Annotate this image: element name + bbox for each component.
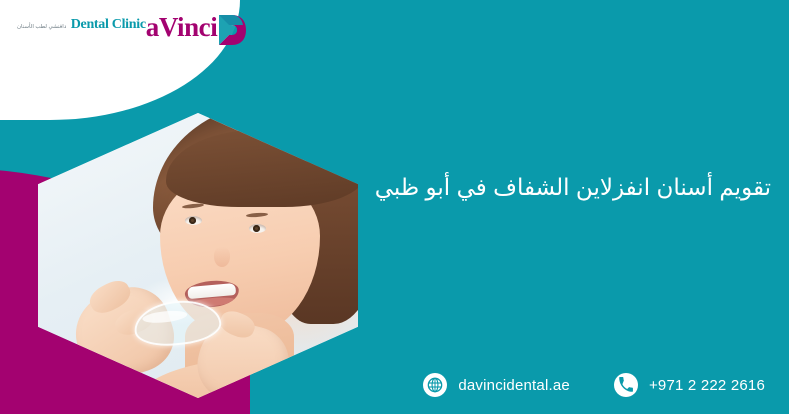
contact-phone-label: +971 2 222 2616 [649, 377, 765, 394]
logo-arabic-tagline: دافنشي لطب الأسنان [17, 24, 66, 30]
contact-phone[interactable]: +971 2 222 2616 [614, 373, 765, 397]
photo-pupil-right [253, 225, 260, 232]
photo-nose [214, 247, 230, 267]
contact-strip: +971 2 222 2616 davincidental.ae [423, 373, 765, 397]
logo-taglines: دافنشي لطب الأسنان Dental Clinic [17, 15, 146, 33]
phone-icon [614, 373, 638, 397]
photo-pupil-left [189, 217, 196, 224]
photo-aligner-highlight [141, 309, 188, 325]
logo-text-lockup: aVinci دافنشي لطب الأسنان Dental Clinic [16, 12, 217, 42]
contact-website[interactable]: davincidental.ae [423, 373, 570, 397]
globe-icon [423, 373, 447, 397]
contact-website-label: davincidental.ae [458, 377, 570, 394]
brand-logo[interactable]: aVinci دافنشي لطب الأسنان Dental Clinic [18, 12, 247, 47]
logo-english-tagline: Dental Clinic [71, 17, 146, 32]
photo-eye-left [185, 216, 202, 225]
promo-banner: aVinci دافنشي لطب الأسنان Dental Clinic [0, 0, 789, 414]
page-title: تقويم أسنان انفزلاين الشفاف في أبو ظبي [351, 170, 771, 204]
logo-wordmark: aVinci [146, 12, 218, 42]
davinci-d-monogram-icon [217, 13, 247, 47]
